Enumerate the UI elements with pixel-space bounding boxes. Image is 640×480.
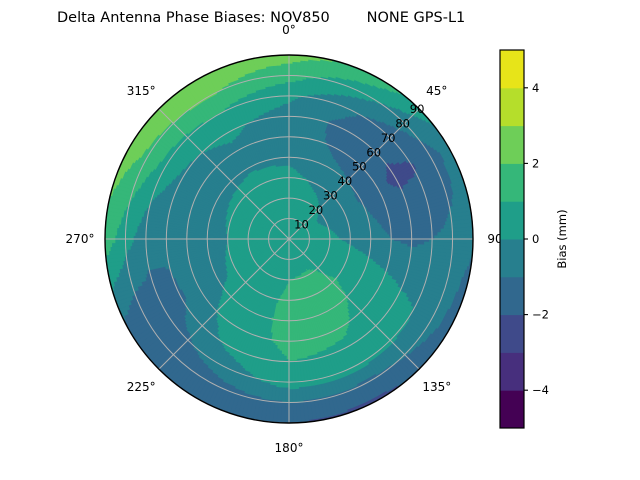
- colorbar-segment: [500, 239, 524, 277]
- colorbar-segment: [500, 50, 524, 88]
- contour-band: [292, 389, 296, 402]
- theta-tick-label: 270°: [66, 232, 95, 246]
- colorbar-segment: [500, 315, 524, 353]
- theta-tick-label: 315°: [127, 84, 156, 98]
- contour-band: [434, 235, 473, 239]
- radial-tick-label: 90: [410, 102, 425, 116]
- contour-band: [286, 82, 289, 104]
- colorbar-tick-label: 0: [532, 232, 539, 246]
- radial-tick-label: 70: [381, 131, 396, 145]
- contour-band: [289, 403, 293, 423]
- colorbar-tick-label: −4: [532, 383, 549, 397]
- contour-band: [105, 243, 112, 247]
- colorbar-segment: [500, 277, 524, 315]
- figure-canvas: Delta Antenna Phase Biases: NOV850 NONE …: [0, 0, 640, 480]
- colorbar-tick-label: 4: [532, 81, 539, 95]
- contour-band: [115, 239, 133, 243]
- contour-band: [289, 55, 293, 63]
- contour-band: [105, 239, 115, 243]
- theta-tick-label: 45°: [426, 84, 447, 98]
- colorbar-segment: [500, 88, 524, 126]
- theta-tick-label: 135°: [422, 380, 451, 394]
- theta-tick-label: 0°: [282, 23, 296, 37]
- colorbar-segment: [500, 163, 524, 201]
- polar-contour-plot: 0°45°90°135°180°225°270°315°102030405060…: [0, 0, 640, 480]
- theta-tick-label: 225°: [127, 380, 156, 394]
- contour-band: [105, 235, 115, 239]
- radial-tick-label: 40: [338, 174, 353, 188]
- radial-tick-label: 50: [352, 160, 367, 174]
- radial-tick-label: 80: [395, 116, 410, 130]
- radial-tick-label: 60: [366, 145, 381, 159]
- contour-band: [285, 55, 289, 63]
- contour-band: [289, 390, 293, 403]
- colorbar-segment: [500, 390, 524, 428]
- colorbar-tick-label: 2: [532, 156, 539, 170]
- colorbar-tick-label: −2: [532, 308, 549, 322]
- contour-band: [285, 63, 289, 81]
- radial-tick-label: 10: [294, 218, 309, 232]
- colorbar-axis-label: Bias (mm): [555, 209, 569, 268]
- colorbar-segment: [500, 352, 524, 390]
- radial-tick-label: 30: [323, 189, 338, 203]
- contour-band: [281, 55, 285, 63]
- colorbar: 420−2−4Bias (mm): [500, 50, 569, 429]
- colorbar-segment: [500, 201, 524, 239]
- contour-band: [293, 55, 297, 62]
- colorbar-segment: [500, 126, 524, 164]
- theta-tick-label: 180°: [275, 441, 304, 455]
- radial-tick-label: 20: [309, 203, 324, 217]
